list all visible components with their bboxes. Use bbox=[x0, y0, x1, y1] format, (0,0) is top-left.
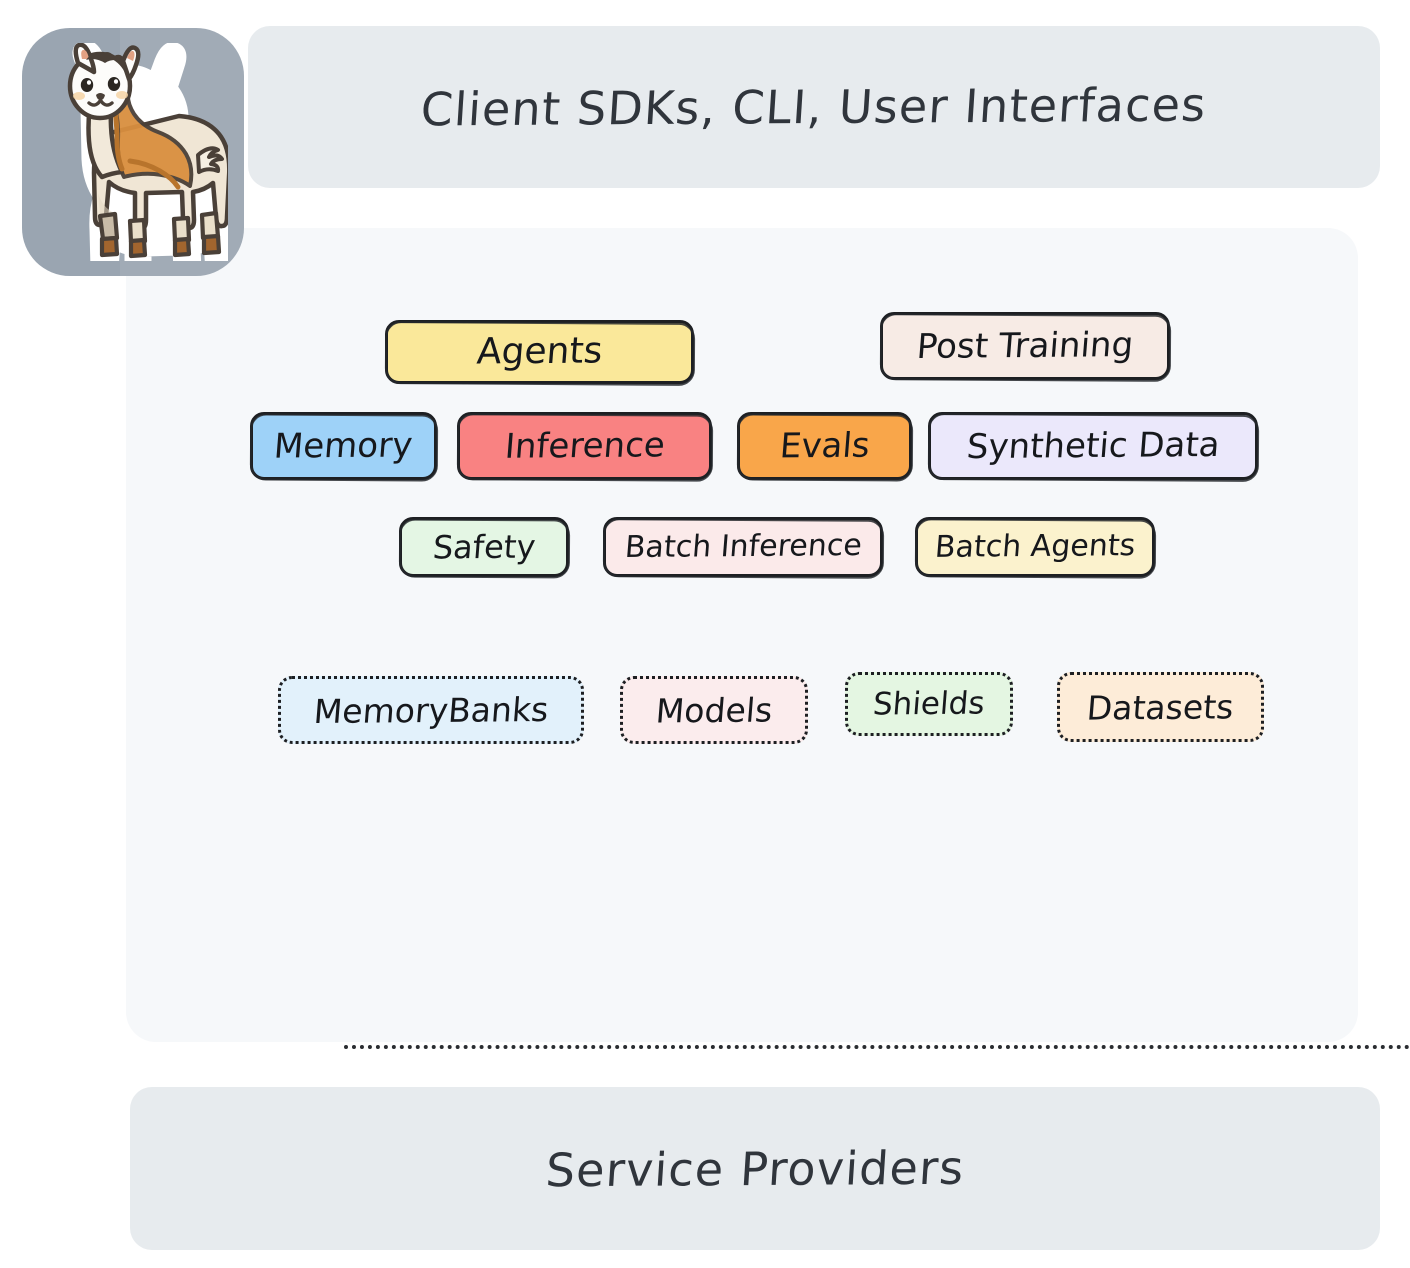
api-node-label: Batch Agents bbox=[934, 531, 1137, 563]
api-node-label: Inference bbox=[503, 428, 666, 463]
api-node-synthetic-data[interactable]: Synthetic Data bbox=[928, 412, 1258, 480]
llama-logo-badge bbox=[22, 28, 244, 276]
api-node-evals[interactable]: Evals bbox=[737, 412, 912, 480]
api-node-label: Agents bbox=[475, 333, 603, 370]
api-node-label: Batch Inference bbox=[623, 531, 862, 563]
resource-node-shields[interactable]: Shields bbox=[845, 672, 1013, 736]
api-node-batch-agents[interactable]: Batch Agents bbox=[915, 517, 1155, 577]
api-node-label: Post Training bbox=[916, 328, 1135, 364]
resource-node-memorybanks[interactable]: MemoryBanks bbox=[278, 676, 584, 744]
resource-node-label: Models bbox=[655, 693, 774, 727]
api-node-memory[interactable]: Memory bbox=[250, 412, 437, 480]
client-layer-bar: Client SDKs, CLI, User Interfaces bbox=[248, 26, 1380, 188]
llama-logo-icon bbox=[38, 43, 228, 261]
api-node-label: Safety bbox=[432, 531, 537, 564]
api-node-inference[interactable]: Inference bbox=[457, 412, 712, 480]
api-node-label: Synthetic Data bbox=[965, 428, 1220, 464]
page-title: Client SDKs, CLI, User Interfaces bbox=[419, 78, 1208, 137]
resource-node-label: MemoryBanks bbox=[312, 692, 549, 727]
llama-stack-panel: AgentsPost TrainingMemoryInferenceEvalsS… bbox=[126, 228, 1358, 1042]
resource-node-label: Datasets bbox=[1086, 690, 1235, 724]
resource-node-models[interactable]: Models bbox=[620, 676, 808, 744]
resource-node-datasets[interactable]: Datasets bbox=[1057, 672, 1264, 742]
resource-node-label: Shields bbox=[872, 688, 986, 720]
service-providers-bar: Service Providers bbox=[130, 1087, 1380, 1250]
section-divider bbox=[344, 1045, 1410, 1049]
api-node-label: Evals bbox=[778, 429, 870, 464]
api-node-label: Memory bbox=[273, 428, 414, 463]
api-node-post-training[interactable]: Post Training bbox=[880, 312, 1170, 380]
api-node-safety[interactable]: Safety bbox=[399, 517, 569, 577]
api-node-agents[interactable]: Agents bbox=[385, 320, 694, 384]
service-providers-label: Service Providers bbox=[544, 1140, 966, 1197]
api-node-batch-inference[interactable]: Batch Inference bbox=[603, 517, 883, 577]
